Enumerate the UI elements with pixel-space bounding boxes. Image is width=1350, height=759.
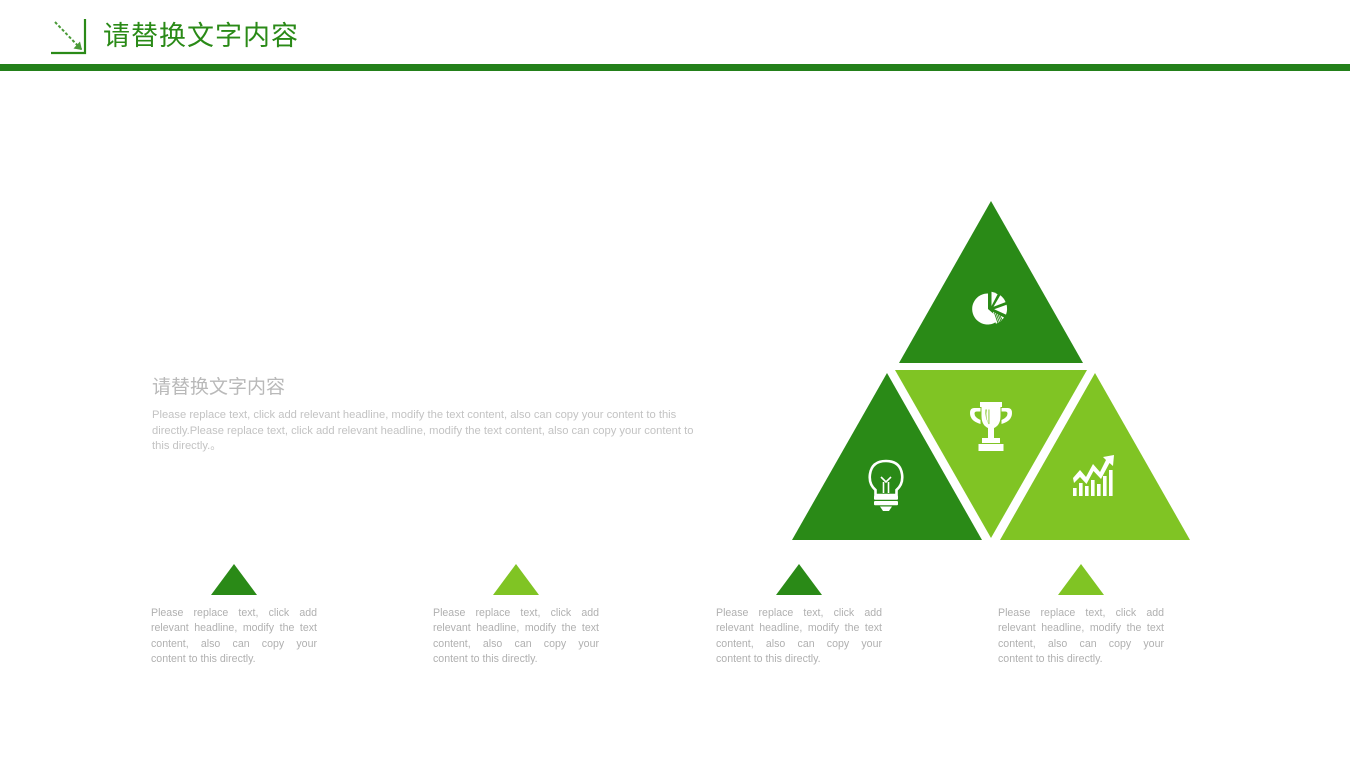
feature-card[interactable]: Please replace text, click add relevant … — [151, 563, 317, 668]
triangle-marker-icon — [1057, 563, 1105, 596]
feature-card-text: Please replace text, click add relevant … — [433, 606, 599, 668]
feature-card[interactable]: Please replace text, click add relevant … — [716, 563, 882, 668]
lead-text-block: 请替换文字内容 Please replace text, click add r… — [152, 374, 698, 455]
feature-card[interactable]: Please replace text, click add relevant … — [433, 563, 599, 668]
triangle-marker-icon — [775, 563, 823, 596]
slide-header: 请替换文字内容 — [0, 0, 1350, 72]
triangle-marker-icon — [492, 563, 540, 596]
header-divider — [0, 64, 1350, 71]
feature-card[interactable]: Please replace text, click add relevant … — [998, 563, 1164, 668]
pyramid-segment-bottom-right[interactable] — [790, 198, 1194, 543]
feature-card-text: Please replace text, click add relevant … — [998, 606, 1164, 668]
feature-card-row: Please replace text, click add relevant … — [0, 563, 1350, 693]
triangle-marker-icon — [210, 563, 258, 596]
feature-card-text: Please replace text, click add relevant … — [151, 606, 317, 668]
diagonal-arrow-corner-icon — [48, 17, 90, 57]
pyramid-diagram — [790, 198, 1194, 543]
lead-title: 请替换文字内容 — [152, 374, 698, 400]
feature-card-text: Please replace text, click add relevant … — [716, 606, 882, 668]
slide-canvas: 请替换文字内容 请替换文字内容 Please replace text, cli… — [0, 0, 1350, 759]
page-title: 请替换文字内容 — [103, 20, 299, 54]
lead-body-text: Please replace text, click add relevant … — [152, 408, 698, 455]
